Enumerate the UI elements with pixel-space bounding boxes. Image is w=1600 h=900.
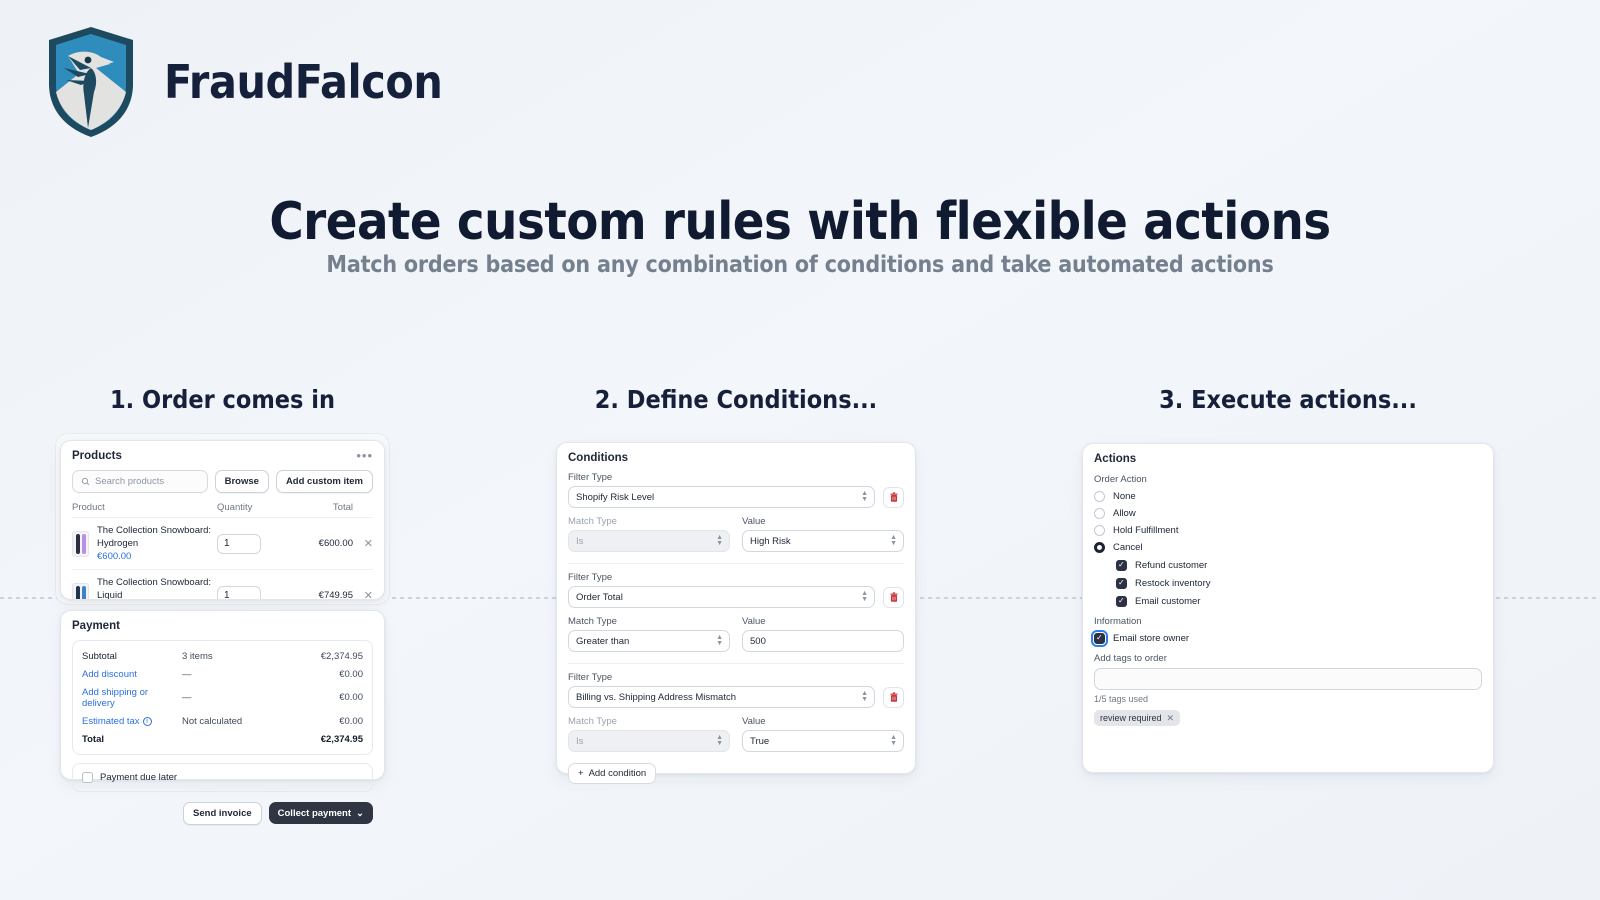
order-action-option[interactable]: Hold Fulfillment [1094,525,1482,536]
products-card: Products ••• Search products Browse Add … [60,440,385,600]
search-placeholder: Search products [95,476,164,487]
chevron-updown-icon: ▲▼ [716,535,723,547]
payment-line: Estimated taxiNot calculated€0.00 [82,712,363,730]
conditions-title: Conditions [568,452,904,464]
match-type-select: Is▲▼ [568,530,730,552]
brand-header: FraudFalcon [44,24,442,140]
option-label: Allow [1113,508,1136,519]
order-action-option[interactable]: Allow [1094,508,1482,519]
collect-payment-label: Collect payment [278,808,351,819]
chevron-updown-icon: ▲▼ [716,735,723,747]
table-row: The Collection Snowboard: Hydrogen€600.0… [72,517,373,569]
payment-line: Total€2,374.95 [82,730,363,748]
send-invoice-button[interactable]: Send invoice [183,802,262,825]
radio-button[interactable] [1094,491,1105,502]
filter-type-select[interactable]: Order Total▲▼ [568,586,875,608]
match-type-select: Is▲▼ [568,730,730,752]
header-quantity: Quantity [217,502,291,513]
header-product: Product [72,502,217,513]
value-label: Value [742,716,904,727]
payment-summary: Subtotal3 items€2,374.95Add discount—€0.… [72,640,373,755]
falcon-shield-logo [44,24,138,140]
brand-name: FraudFalcon [164,55,442,109]
value-input[interactable] [742,630,904,652]
payment-line-amount: €2,374.95 [321,734,363,745]
tags-used-count: 1/5 tags used [1094,694,1482,704]
tag-chip[interactable]: review required✕ [1094,710,1180,726]
order-action-label: Order Action [1094,474,1482,485]
remove-product-icon[interactable]: ✕ [353,589,373,600]
payment-line-amount: €0.00 [339,669,363,680]
match-type-label: Match Type [568,516,730,527]
value-select[interactable]: True▲▼ [742,730,904,752]
order-action-option[interactable]: Cancel [1094,542,1482,553]
value-label: Value [742,516,904,527]
checkbox[interactable] [1116,596,1127,607]
trash-icon [889,592,899,603]
chevron-updown-icon: ▲▼ [890,735,897,747]
tag-label: review required [1100,713,1162,723]
checkbox[interactable] [1116,560,1127,571]
chevron-down-icon: ⌄ [356,808,364,819]
cancel-sub-option[interactable]: Email customer [1116,596,1482,607]
payment-line-label[interactable]: Add shipping or delivery [82,687,182,709]
landing-page: FraudFalcon Create custom rules with fle… [0,0,1600,900]
cancel-sub-option[interactable]: Refund customer [1116,560,1482,571]
payment-line-amount: €0.00 [339,692,363,703]
payment-card: Payment Subtotal3 items€2,374.95Add disc… [60,610,385,780]
product-name: The Collection Snowboard: Liquid [97,576,217,600]
payment-due-later-label: Payment due later [100,772,177,783]
payment-line-label[interactable]: Add discount [82,669,182,680]
checkbox-label: Email customer [1135,596,1200,607]
checkbox[interactable] [1116,578,1127,589]
trash-icon [889,492,899,503]
option-label: Cancel [1113,542,1143,553]
search-icon [81,477,90,486]
payment-line-detail: 3 items [182,651,321,662]
condition-row: Filter TypeOrder Total▲▼Match TypeGreate… [568,563,904,652]
divider [568,663,904,664]
option-label: Hold Fulfillment [1113,525,1178,536]
header-total: Total [291,502,353,513]
column-title-actions: 3. Execute actions... [1082,385,1494,414]
value-text: High Risk [750,536,791,547]
product-thumbnail [72,531,89,557]
info-icon[interactable]: i [143,717,152,726]
conditions-card: Conditions Filter TypeShopify Risk Level… [556,442,916,774]
chevron-updown-icon: ▲▼ [861,591,868,603]
chevron-updown-icon: ▲▼ [890,535,897,547]
product-total: €749.95 [291,590,353,600]
payment-line: Add discount—€0.00 [82,665,363,683]
filter-type-select[interactable]: Shopify Risk Level▲▼ [568,486,875,508]
add-custom-item-button[interactable]: Add custom item [276,470,373,493]
remove-product-icon[interactable]: ✕ [353,537,373,550]
add-condition-label: Add condition [589,768,647,779]
match-type-value: Is [576,536,583,547]
email-store-owner-checkbox[interactable] [1094,633,1105,644]
payment-line-label[interactable]: Estimated taxi [82,716,182,727]
column-title-order: 1. Order comes in [55,385,390,414]
condition-row: Filter TypeBilling vs. Shipping Address … [568,663,904,752]
page-subtitle: Match orders based on any combination of… [0,252,1600,278]
information-label: Information [1094,616,1482,627]
delete-condition-button[interactable] [883,487,904,508]
products-table-header: Product Quantity Total [72,502,373,517]
payment-line-label: Total [82,734,182,745]
column-title-conditions: 2. Define Conditions... [556,385,916,414]
filter-type-label: Filter Type [568,572,904,583]
product-name: The Collection Snowboard: Hydrogen [97,524,217,550]
filter-type-select[interactable]: Billing vs. Shipping Address Mismatch▲▼ [568,686,875,708]
payment-line: Subtotal3 items€2,374.95 [82,647,363,665]
cancel-sub-option[interactable]: Restock inventory [1116,578,1482,589]
quantity-input[interactable] [217,534,261,554]
option-label: None [1113,491,1136,502]
filter-type-label: Filter Type [568,672,904,683]
actions-title: Actions [1094,453,1482,465]
product-price: €600.00 [97,550,217,563]
table-row: The Collection Snowboard: Liquid€749.95€… [72,569,373,600]
radio-button[interactable] [1094,542,1105,553]
actions-card: Actions Order Action NoneAllowHold Fulfi… [1082,443,1494,773]
email-store-owner-row[interactable]: Email store owner [1094,633,1482,644]
radio-button[interactable] [1094,508,1105,519]
payment-line: Add shipping or delivery—€0.00 [82,683,363,712]
payment-line-detail: — [182,669,339,680]
payment-line-amount: €2,374.95 [321,651,363,662]
ellipsis-icon[interactable]: ••• [356,452,373,460]
match-type-select[interactable]: Greater than▲▼ [568,630,730,652]
payment-line-amount: €0.00 [339,716,363,727]
add-tags-label: Add tags to order [1094,653,1482,664]
match-type-value: Greater than [576,636,629,647]
value-label: Value [742,616,904,627]
value-text: True [750,736,769,747]
filter-type-label: Filter Type [568,472,904,483]
value-select[interactable]: High Risk▲▼ [742,530,904,552]
trash-icon [889,692,899,703]
match-type-value: Is [576,736,583,747]
filter-type-value: Order Total [576,592,623,603]
payment-title: Payment [72,620,373,632]
chevron-updown-icon: ▲▼ [861,691,868,703]
filter-type-value: Billing vs. Shipping Address Mismatch [576,692,736,703]
chevron-updown-icon: ▲▼ [716,635,723,647]
value-text-input[interactable] [750,636,896,647]
chevron-updown-icon: ▲▼ [861,491,868,503]
page-title: Create custom rules with flexible action… [0,192,1600,252]
plus-icon: + [578,768,584,779]
payment-due-later-checkbox[interactable] [82,772,93,783]
filter-type-value: Shopify Risk Level [576,492,654,503]
close-icon[interactable]: ✕ [1167,713,1175,724]
divider [568,563,904,564]
match-type-label: Match Type [568,716,730,727]
payment-line-detail: — [182,692,339,703]
condition-row: Filter TypeShopify Risk Level▲▼Match Typ… [568,472,904,552]
radio-button[interactable] [1094,525,1105,536]
product-total: €600.00 [291,538,353,549]
payment-line-detail: Not calculated [182,716,339,727]
order-action-option[interactable]: None [1094,491,1482,502]
products-title: Products [72,450,122,462]
payment-due-later-row[interactable]: Payment due later [72,763,373,792]
checkbox-label: Refund customer [1135,560,1207,571]
browse-button[interactable]: Browse [215,470,269,493]
add-condition-button[interactable]: + Add condition [568,763,656,784]
match-type-label: Match Type [568,616,730,627]
email-store-owner-label: Email store owner [1113,633,1189,644]
product-thumbnail [72,583,89,601]
search-input[interactable]: Search products [72,470,208,493]
quantity-input[interactable] [217,586,261,600]
checkbox-label: Restock inventory [1135,578,1211,589]
add-tags-input[interactable] [1094,668,1482,690]
collect-payment-button[interactable]: Collect payment ⌄ [269,802,373,824]
payment-line-label: Subtotal [82,651,182,662]
delete-condition-button[interactable] [883,587,904,608]
delete-condition-button[interactable] [883,687,904,708]
